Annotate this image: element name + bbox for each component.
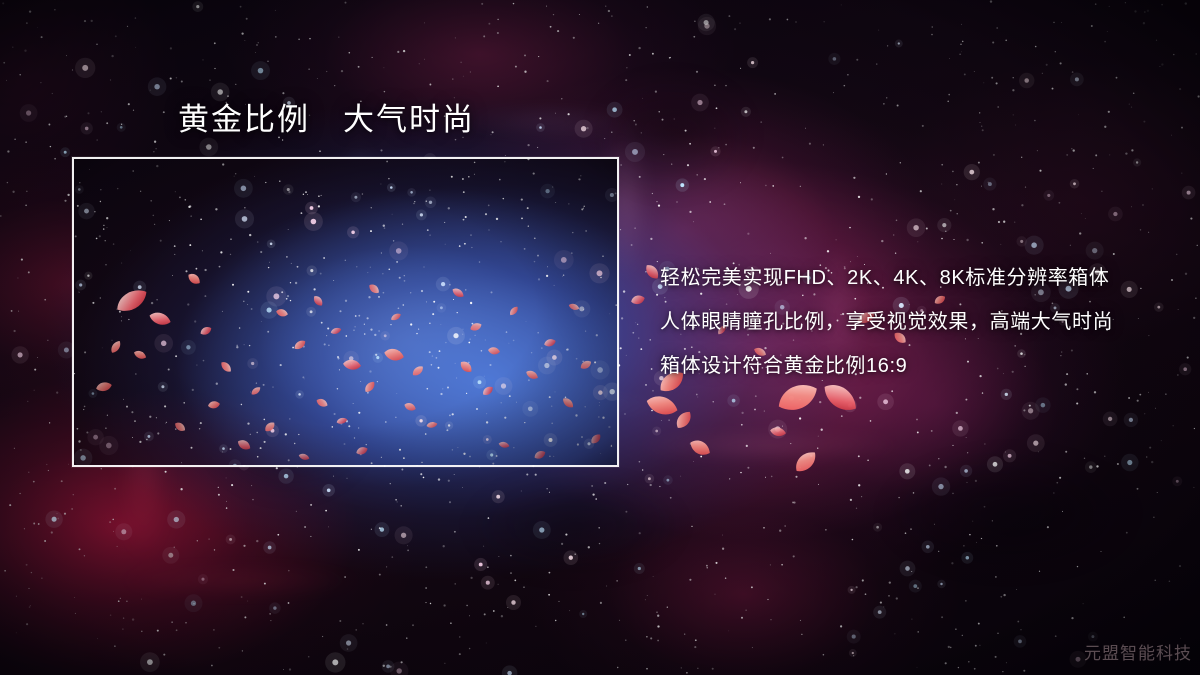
framed-photo-inner bbox=[74, 159, 617, 465]
body-text-block: 轻松完美实现FHD、2K、4K、8K标准分辨率箱体 人体眼睛瞳孔比例，享受视觉效… bbox=[660, 256, 1180, 388]
framed-photo[interactable] bbox=[72, 157, 619, 467]
page-title: 黄金比例 大气时尚 bbox=[178, 100, 475, 140]
watermark: 元盟智能科技 bbox=[1084, 643, 1192, 665]
body-line-2: 人体眼睛瞳孔比例，享受视觉效果，高端大气时尚 bbox=[660, 300, 1180, 344]
presentation-slide: 黄金比例 大气时尚 轻松完美实现FHD、2K、4K、8K标准分辨率箱体 人体眼睛… bbox=[0, 0, 1200, 675]
framed-photo-vignette bbox=[74, 159, 617, 465]
body-line-3: 箱体设计符合黄金比例16:9 bbox=[660, 344, 1180, 388]
body-line-1: 轻松完美实现FHD、2K、4K、8K标准分辨率箱体 bbox=[660, 256, 1180, 300]
